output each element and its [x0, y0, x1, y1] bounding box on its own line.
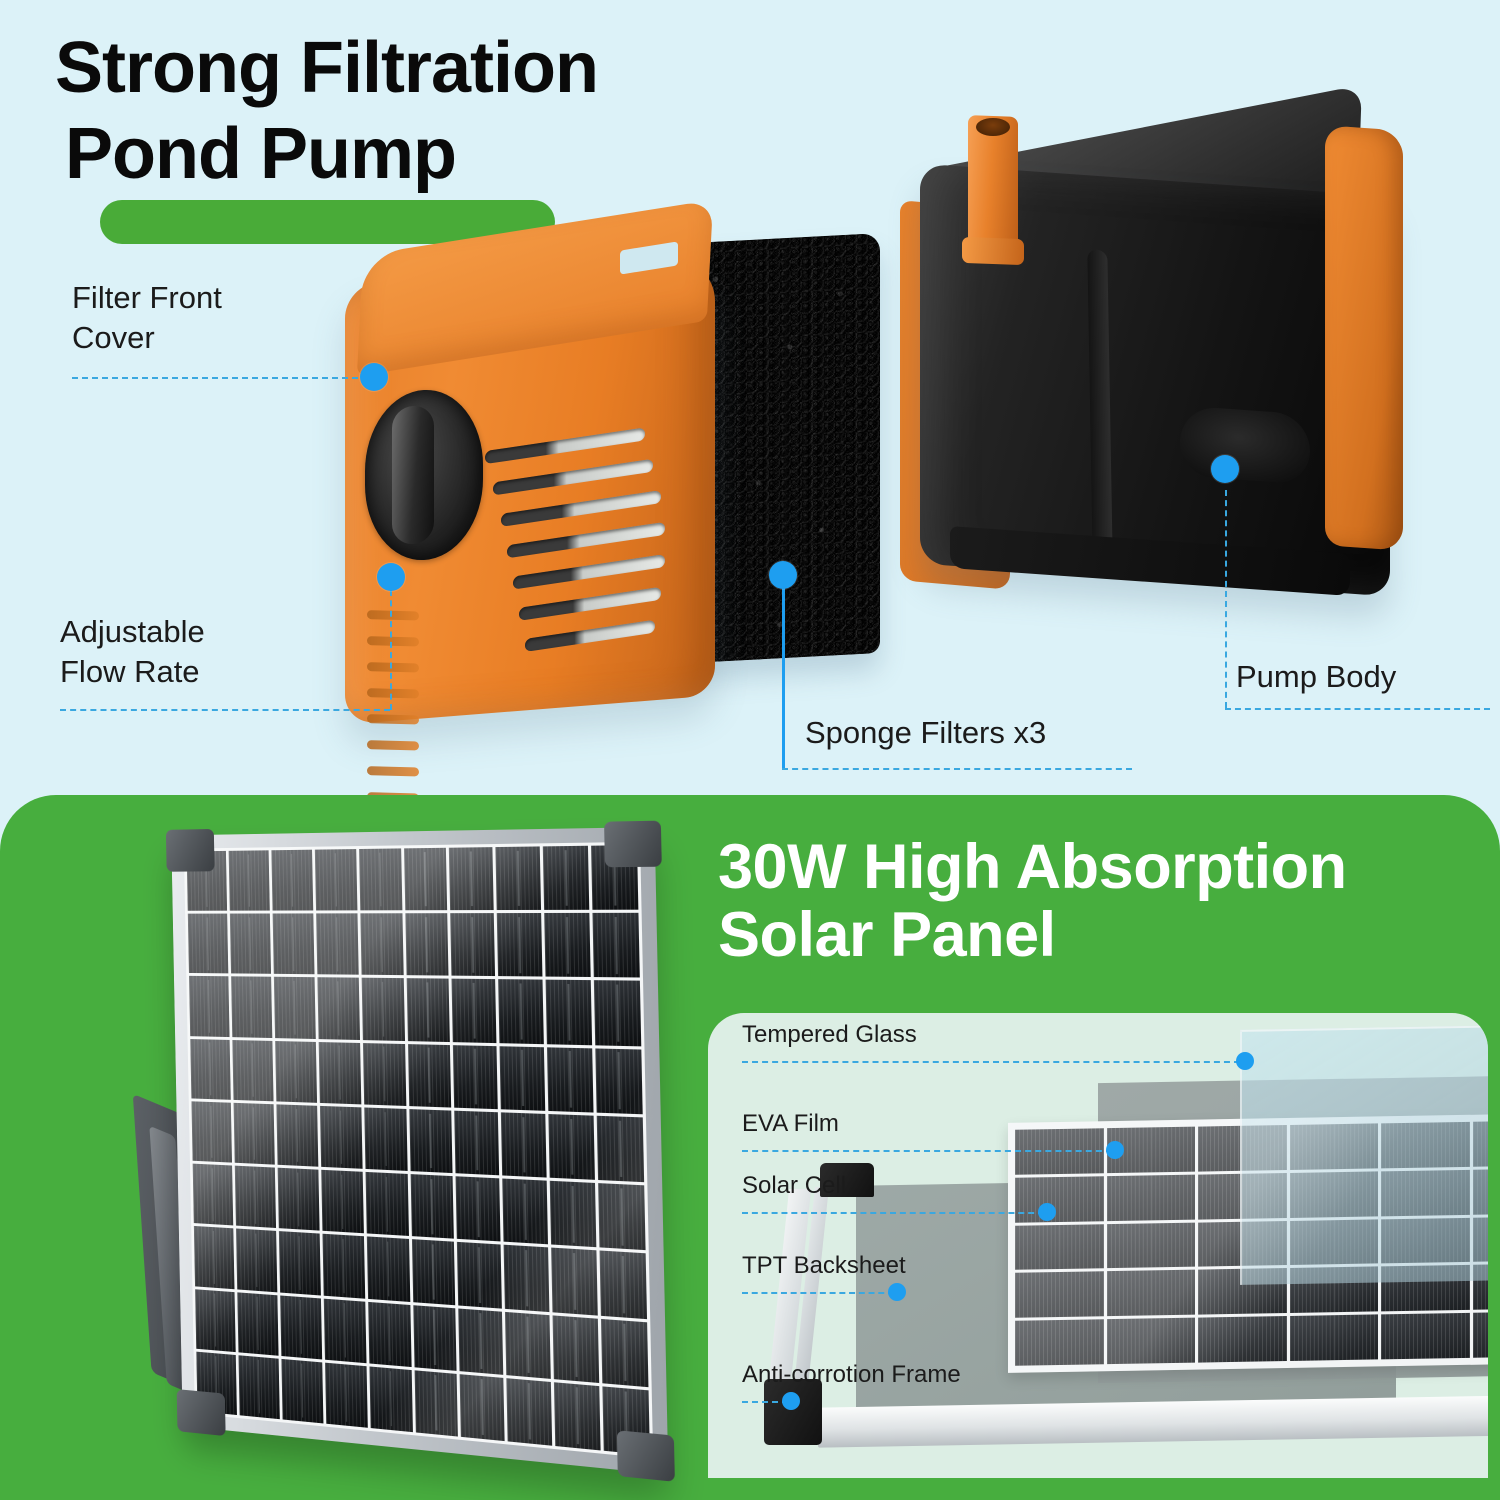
callout-dot-adjustable-flow-rate: [377, 563, 405, 591]
callout-label-adjustable-flow-rate: Adjustable Flow Rate: [60, 612, 205, 693]
layer-label-solar-cell: Solar Cell: [742, 1172, 846, 1200]
callout-label-sponge-filters: Sponge Filters x3: [805, 713, 1046, 753]
vent-slot: [525, 620, 655, 652]
layer-dot-solar-cell: [1038, 1203, 1056, 1221]
callout-label-filter-front-cover: Filter Front Cover: [72, 278, 222, 359]
panel-corner-bracket: [617, 1430, 675, 1482]
layer-label-tpt-backsheet: TPT Backsheet: [742, 1252, 906, 1280]
flow-rate-dial-knob: [392, 405, 434, 545]
layer-dot-tpt-backsheet: [888, 1283, 906, 1301]
pump-outlet-nozzle: [968, 115, 1018, 257]
layer-leader-solar-cell: [742, 1212, 1044, 1214]
layer-label-eva-film: EVA Film: [742, 1110, 839, 1138]
callout-leader-sponge-filters-v: [782, 588, 785, 768]
pump-outlet-rim: [962, 237, 1024, 265]
layer-dot-tempered-glass: [1236, 1052, 1254, 1070]
solar-panel-layer-diagram: Tempered Glass EVA Film Solar Cell TPT B…: [708, 1013, 1488, 1478]
pump-body-graphic: [790, 110, 1450, 670]
pump-body-grip-recess: [1180, 405, 1310, 484]
layer-dot-anti-corrotion-frame: [782, 1392, 800, 1410]
pump-outlet-opening: [976, 118, 1010, 136]
callout-leader-adjustable-flow-rate-h: [60, 709, 390, 711]
vent-slot: [501, 490, 661, 527]
filter-cover-side-ribs: [367, 608, 427, 800]
callout-dot-filter-front-cover: [360, 363, 388, 391]
layer-label-tempered-glass: Tempered Glass: [742, 1021, 917, 1049]
vent-slot: [493, 459, 653, 496]
solar-panel-product-graphic: [100, 823, 680, 1478]
pump-orange-side-strap: [1325, 125, 1403, 550]
callout-leader-pump-body-v: [1225, 490, 1227, 708]
solar-heading-line-1: 30W High Absorption: [718, 833, 1478, 901]
layer-leader-eva-film: [742, 1150, 1112, 1152]
vent-slot: [507, 522, 665, 558]
callout-dot-sponge-filters: [769, 561, 797, 589]
panel-corner-bracket: [177, 1389, 226, 1436]
vent-slot: [513, 554, 665, 590]
panel-cell-grid: [184, 842, 653, 1459]
callout-label-pump-body: Pump Body: [1236, 657, 1396, 697]
panel-corner-bracket: [166, 829, 215, 872]
title-line-1: Strong Filtration: [55, 32, 815, 104]
solar-panel-heading: 30W High Absorption Solar Panel: [718, 833, 1478, 969]
pond-pump-section: Strong Filtration Pond Pump: [0, 0, 1500, 800]
layer-leader-tpt-backsheet: [742, 1292, 894, 1294]
layer-leader-tempered-glass: [742, 1061, 1240, 1063]
vent-slot: [485, 427, 645, 464]
callout-dot-pump-body: [1211, 455, 1239, 483]
solar-panel-section: 30W High Absorption Solar Panel: [0, 795, 1500, 1500]
layer-tempered-glass-graphic: [1240, 1024, 1488, 1285]
title-line-2: Pond Pump: [55, 118, 466, 190]
panel-corner-bracket: [604, 821, 662, 868]
callout-leader-pump-body-h: [1225, 708, 1490, 710]
callout-leader-filter-front-cover: [72, 377, 358, 379]
layer-dot-eva-film: [1106, 1141, 1124, 1159]
layer-label-anti-corrotion-frame: Anti-corrotion Frame: [742, 1361, 961, 1389]
vent-slot: [519, 587, 661, 621]
callout-leader-sponge-filters-h: [782, 768, 1132, 770]
solar-heading-line-2: Solar Panel: [718, 901, 1478, 969]
pump-product-illustration: [320, 110, 1480, 750]
panel-frame: [171, 827, 668, 1475]
callout-leader-adjustable-flow-rate-v: [390, 590, 392, 710]
